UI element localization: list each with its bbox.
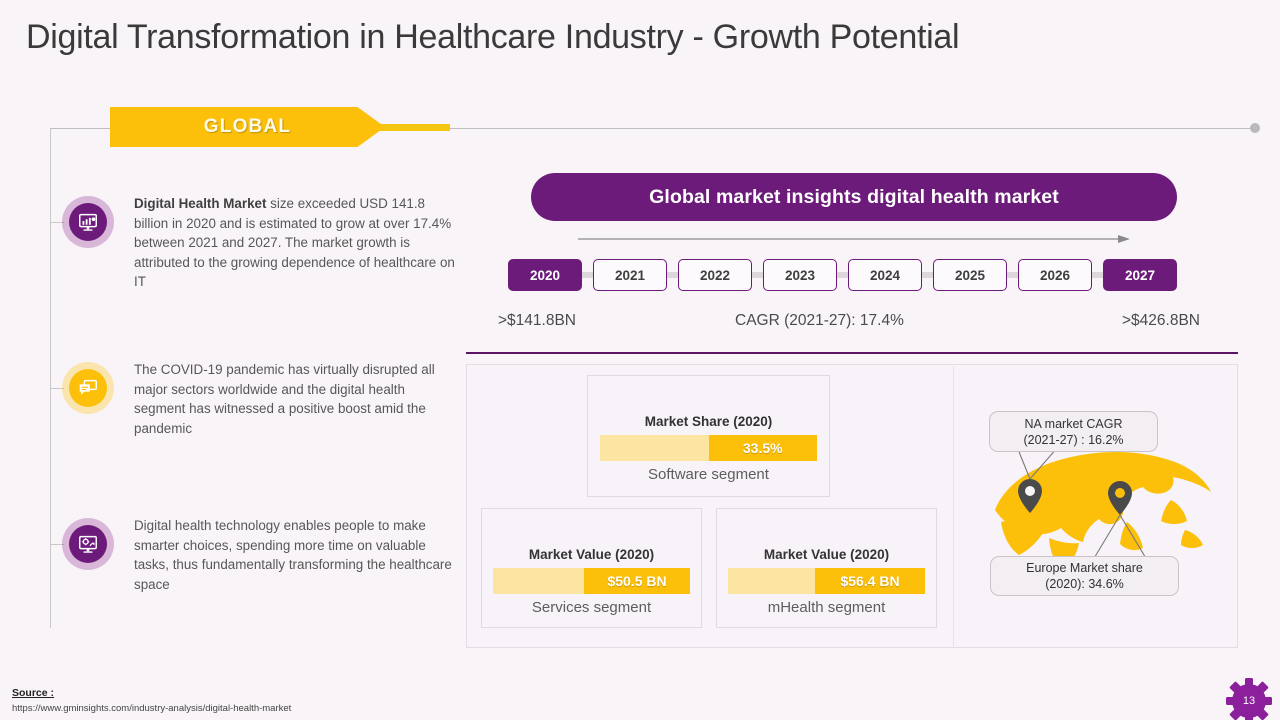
bullet-text-2: The COVID-19 pandemic has virtually disr… [134, 360, 456, 438]
year-gap [667, 272, 678, 278]
year-2021[interactable]: 2021 [593, 259, 667, 291]
source-url[interactable]: https://www.gminsights.com/industry-anal… [12, 703, 291, 714]
year-gap [837, 272, 848, 278]
insights-header-label: Global market insights digital health ma… [649, 186, 1059, 209]
monitor-gear-icon [62, 518, 114, 570]
section-divider [466, 352, 1238, 354]
na-callout-line2: (2021-27) : 16.2% [990, 432, 1157, 448]
eu-callout-line1: Europe Market share [991, 560, 1178, 576]
year-2026[interactable]: 2026 [1018, 259, 1092, 291]
segment-bar-value: 33.5% [709, 435, 818, 461]
year-2025[interactable]: 2025 [933, 259, 1007, 291]
speech-bubble-icon [62, 362, 114, 414]
source-label: Source : [12, 687, 54, 699]
global-tab[interactable]: GLOBAL [110, 107, 385, 147]
panel-vertical-divider [953, 366, 954, 646]
tab-connector [378, 124, 450, 131]
segment-bar-track [493, 568, 584, 594]
year-2023[interactable]: 2023 [763, 259, 837, 291]
segment-title: Market Value (2020) [764, 547, 889, 562]
left-rail-line [50, 128, 51, 628]
insights-header: Global market insights digital health ma… [531, 173, 1177, 221]
bullet-text-3: Digital health technology enables people… [134, 516, 456, 594]
rail-end-dot [1250, 123, 1260, 133]
segment-card-software: Market Share (2020) 33.5% Software segme… [587, 375, 830, 497]
year-2022[interactable]: 2022 [678, 259, 752, 291]
year-2020[interactable]: 2020 [508, 259, 582, 291]
segment-title: Market Value (2020) [529, 547, 654, 562]
segment-title: Market Share (2020) [645, 414, 773, 429]
na-callout-line1: NA market CAGR [990, 416, 1157, 432]
segment-bar: 33.5% [600, 435, 817, 461]
bullet-item-1: Digital Health Market size exceeded USD … [62, 194, 456, 292]
slide-root: Digital Transformation in Healthcare Ind… [0, 0, 1280, 720]
global-tab-label: GLOBAL [204, 116, 291, 138]
segment-bar: $56.4 BN [728, 568, 926, 594]
segment-subtitle: Software segment [648, 466, 769, 483]
year-gap [1007, 272, 1018, 278]
bullet-item-3: Digital health technology enables people… [62, 516, 456, 594]
monitor-chart-icon [62, 196, 114, 248]
bullet-text-1: Digital Health Market size exceeded USD … [134, 194, 456, 292]
year-gap [752, 272, 763, 278]
segment-bar-track [728, 568, 815, 594]
value-end: >$426.8BN [1122, 312, 1200, 330]
segment-bar: $50.5 BN [493, 568, 691, 594]
segment-bar-value: $50.5 BN [584, 568, 691, 594]
year-2027[interactable]: 2027 [1103, 259, 1177, 291]
page-title: Digital Transformation in Healthcare Ind… [26, 18, 959, 57]
year-2024[interactable]: 2024 [848, 259, 922, 291]
page-number-badge: 13 [1224, 676, 1274, 720]
year-gap [582, 272, 593, 278]
year-gap [922, 272, 933, 278]
segment-subtitle: mHealth segment [768, 599, 886, 616]
timeline-arrow-icon [578, 231, 1130, 241]
segment-subtitle: Services segment [532, 599, 651, 616]
europe-market-callout: Europe Market share (2020): 34.6% [990, 556, 1179, 596]
segment-bar-value: $56.4 BN [815, 568, 926, 594]
value-row: >$141.8BN CAGR (2021-27): 17.4% >$426.8B… [470, 312, 1230, 338]
eu-callout-line2: (2020): 34.6% [991, 576, 1178, 592]
segment-card-mhealth: Market Value (2020) $56.4 BN mHealth seg… [716, 508, 937, 628]
year-gap [1092, 272, 1103, 278]
value-start: >$141.8BN [498, 312, 576, 330]
value-cagr: CAGR (2021-27): 17.4% [735, 312, 904, 330]
bullet-item-2: The COVID-19 pandemic has virtually disr… [62, 360, 456, 438]
na-market-callout: NA market CAGR (2021-27) : 16.2% [989, 411, 1158, 452]
segment-bar-track [600, 435, 709, 461]
page-number-label: 13 [1224, 676, 1274, 720]
bullet-lead-1: Digital Health Market [134, 196, 266, 211]
segment-card-services: Market Value (2020) $50.5 BN Services se… [481, 508, 702, 628]
year-timeline: 2020 2021 2022 2023 2024 2025 2026 2027 [508, 259, 1177, 291]
